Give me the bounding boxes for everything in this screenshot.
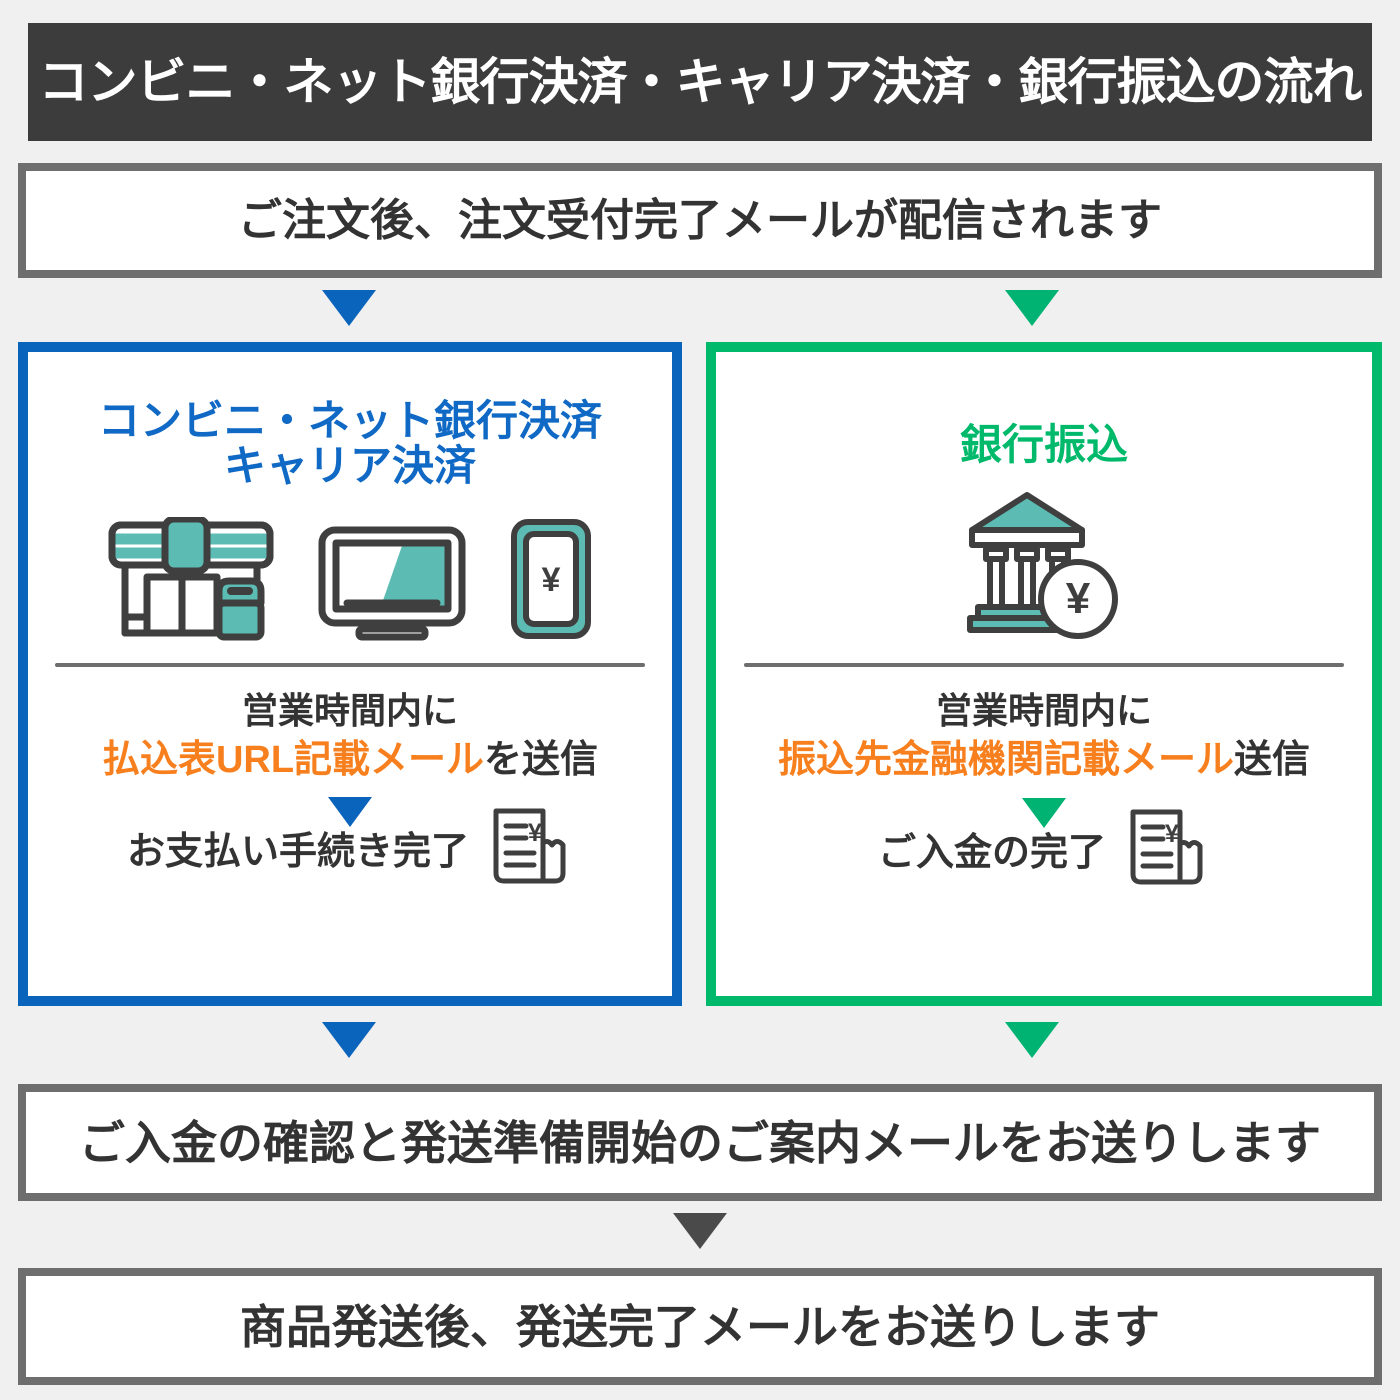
down-arrow-blue-bottom xyxy=(322,1022,376,1058)
panel-bank-icon-row: ¥ xyxy=(716,515,1372,641)
panel-bank-note-highlight: 振込先金融機関記載メール xyxy=(778,739,1234,781)
page-title: コンビニ・ネット銀行決済・キャリア決済・銀行振込の流れ xyxy=(39,57,1362,107)
down-arrow-dark-final xyxy=(673,1213,727,1249)
panel-convenience-note-highlight: 払込表URL記載メール xyxy=(102,739,484,781)
desktop-monitor-icon xyxy=(317,525,467,641)
panel-convenience-note-line1: 営業時間内に xyxy=(28,689,672,733)
panel-bank-note-line1: 営業時間内に xyxy=(716,689,1372,733)
panel-bank-transfer: 銀行振込 xyxy=(706,342,1382,1006)
receipt-yen-icon: ¥ xyxy=(483,803,573,893)
panel-convenience-note-suffix: を送信 xyxy=(484,739,598,781)
svg-text:¥: ¥ xyxy=(542,561,561,599)
down-arrow-blue-small xyxy=(328,797,372,827)
payment-flow-diagram: コンビニ・ネット銀行決済・キャリア決済・銀行振込の流れ ご注文後、注文受付完了メ… xyxy=(0,0,1400,1400)
panel-bank-note: 営業時間内に 振込先金融機関記載メール送信 xyxy=(716,689,1372,783)
svg-text:¥: ¥ xyxy=(1165,820,1179,848)
panel-convenience-complete-label: お支払い手続き完了 xyxy=(127,820,469,875)
panel-bank-note-suffix: 送信 xyxy=(1234,739,1310,781)
panel-convenience-note-line2: 払込表URL記載メールを送信 xyxy=(28,737,672,783)
smartphone-yen-icon: ¥ xyxy=(509,517,593,641)
down-arrow-green-bottom xyxy=(1005,1022,1059,1058)
down-arrow-green-small xyxy=(1022,798,1066,828)
panel-bank-divider xyxy=(744,663,1344,667)
panel-convenience-icon-row: ¥ xyxy=(28,515,672,641)
panel-bank-note-line2: 振込先金融機関記載メール送信 xyxy=(716,737,1372,783)
panel-bank-title: 銀行振込 xyxy=(716,422,1372,467)
step-shipped-email-label: 商品発送後、発送完了メールをお送りします xyxy=(240,1304,1160,1350)
step-order-email-label: ご注文後、注文受付完了メールが配信されます xyxy=(238,199,1162,243)
panel-convenience-title: コンビニ・ネット銀行決済 キャリア決済 xyxy=(28,398,672,489)
step-payment-confirm-email: ご入金の確認と発送準備開始のご案内メールをお送りします xyxy=(18,1084,1382,1201)
step-order-email: ご注文後、注文受付完了メールが配信されます xyxy=(18,163,1382,278)
step-payment-confirm-email-label: ご入金の確認と発送準備開始のご案内メールをお送りします xyxy=(79,1120,1321,1166)
svg-text:¥: ¥ xyxy=(1066,574,1091,623)
receipt-yen-icon: ¥ xyxy=(1120,804,1210,894)
panel-convenience-payment: コンビニ・ネット銀行決済 キャリア決済 xyxy=(18,342,682,1006)
panel-convenience-note: 営業時間内に 払込表URL記載メールを送信 xyxy=(28,689,672,783)
header-bar: コンビニ・ネット銀行決済・キャリア決済・銀行振込の流れ xyxy=(28,23,1372,141)
panel-bank-complete-label: ご入金の完了 xyxy=(878,821,1106,876)
step-shipped-email: 商品発送後、発送完了メールをお送りします xyxy=(18,1268,1382,1385)
convenience-store-icon xyxy=(107,517,275,641)
panel-convenience-divider xyxy=(55,663,645,667)
bank-building-yen-icon: ¥ xyxy=(964,491,1124,641)
down-arrow-green-top xyxy=(1005,290,1059,326)
down-arrow-blue-top xyxy=(322,290,376,326)
svg-text:¥: ¥ xyxy=(528,819,542,847)
